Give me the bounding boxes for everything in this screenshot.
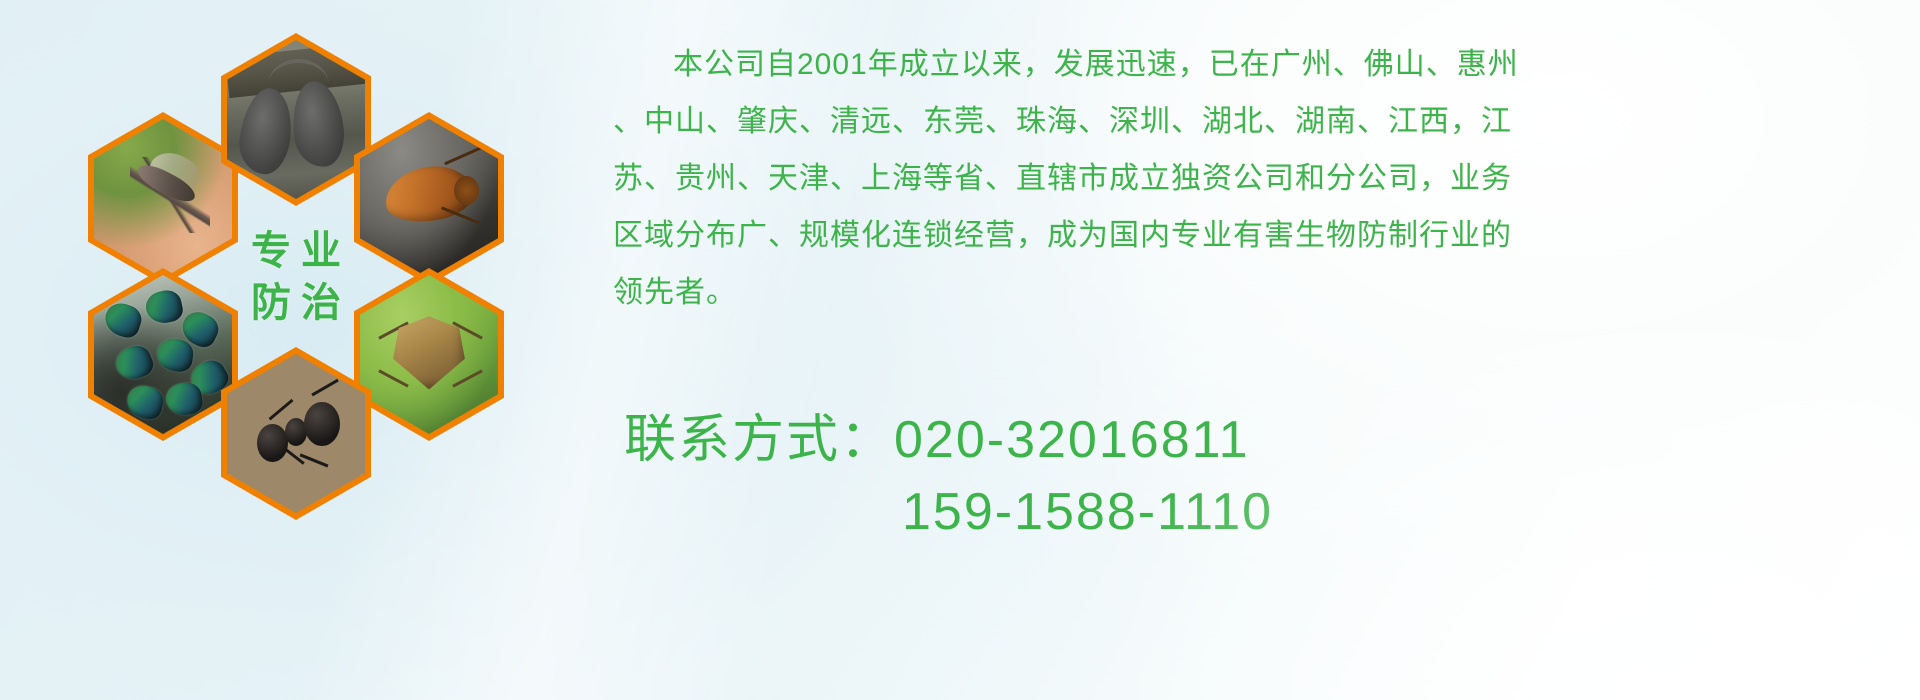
honeycomb-collage: 专业 防治 — [88, 0, 588, 560]
hex-cell-mosquito[interactable] — [88, 112, 238, 285]
company-description: 本公司自2001年成立以来，发展迅速，已在广州、佛山、惠州 、中山、肇庆、清远、… — [613, 36, 1908, 321]
hex-cell-stinkbug[interactable] — [354, 268, 504, 441]
contact-label: 联系方式： — [624, 411, 894, 469]
comb-label-line2: 防治 — [241, 282, 351, 324]
comb-label-line1: 专业 — [241, 230, 351, 272]
description-line-5: 领先者。 — [613, 264, 1908, 321]
pest-control-banner: 专业 防治 — [0, 0, 1920, 700]
contact-phone-secondary[interactable]: 159-1588-1110 — [624, 476, 1920, 548]
description-line-1: 本公司自2001年成立以来，发展迅速，已在广州、佛山、惠州 — [613, 36, 1908, 93]
hex-cell-cockroach[interactable] — [354, 112, 504, 285]
hex-image-flies — [94, 275, 232, 434]
hex-image-mosquito — [94, 119, 232, 278]
hex-image-ant — [227, 354, 365, 513]
hex-cell-rats[interactable] — [221, 33, 371, 206]
hex-cell-ant[interactable] — [221, 347, 371, 520]
description-line-4: 区域分布广、规模化连锁经营，成为国内专业有害生物防制行业的 — [613, 207, 1908, 264]
hex-cell-flies[interactable] — [88, 268, 238, 441]
contact-phone-primary[interactable]: 020-32016811 — [894, 411, 1250, 469]
hex-image-rats — [227, 40, 365, 199]
hex-image-stinkbug — [360, 275, 498, 434]
contact-block: 联系方式：020-32016811 159-1588-1110 — [624, 404, 1920, 548]
hex-image-cockroach — [360, 119, 498, 278]
hex-cell-title: 专业 防治 — [221, 190, 371, 363]
description-line-2: 、中山、肇庆、清远、东莞、珠海、深圳、湖北、湖南、江西，江 — [613, 93, 1908, 150]
description-line-3: 苏、贵州、天津、上海等省、直辖市成立独资公司和分公司，业务 — [613, 150, 1908, 207]
contact-primary-line: 联系方式：020-32016811 — [624, 404, 1920, 476]
